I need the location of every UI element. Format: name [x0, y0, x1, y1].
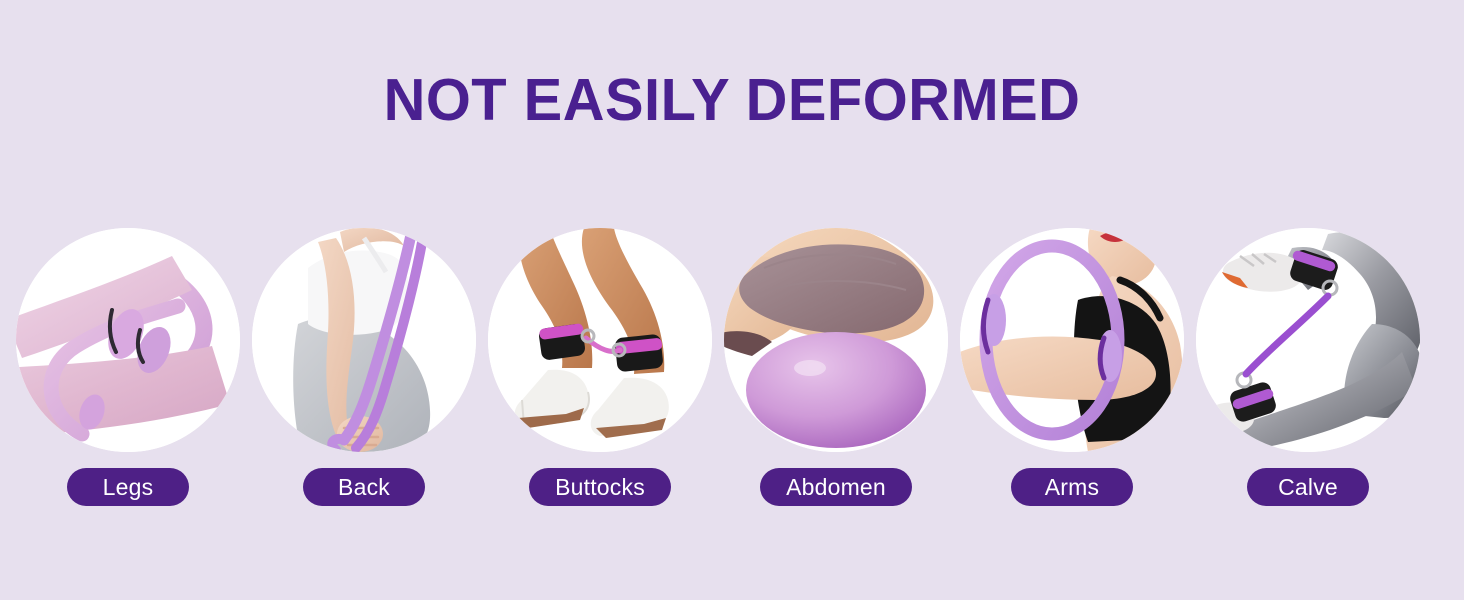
list-item: Back	[252, 228, 476, 506]
legs-with-pilates-ring-photo	[16, 228, 240, 452]
list-item: Abdomen	[724, 228, 948, 506]
page-title: NOT EASILY DEFORMED	[15, 64, 1450, 136]
body-part-label-arms[interactable]: Arms	[1011, 468, 1133, 506]
body-parts-list: Legs	[16, 228, 1448, 506]
promo-banner: NOT EASILY DEFORMED	[0, 0, 1464, 600]
list-item: Buttocks	[488, 228, 712, 506]
list-item: Legs	[16, 228, 240, 506]
buttocks-with-ankle-straps-photo	[488, 228, 712, 452]
body-part-label-abdomen[interactable]: Abdomen	[760, 468, 912, 506]
list-item: Calve	[1196, 228, 1420, 506]
body-part-label-buttocks[interactable]: Buttocks	[529, 468, 671, 506]
body-part-label-legs[interactable]: Legs	[67, 468, 189, 506]
body-part-label-back[interactable]: Back	[303, 468, 425, 506]
back-with-resistance-band-photo	[252, 228, 476, 452]
arms-with-pilates-ring-photo	[960, 228, 1184, 452]
body-part-label-calve[interactable]: Calve	[1247, 468, 1369, 506]
calve-with-resistance-band-photo	[1196, 228, 1420, 452]
list-item: Arms	[960, 228, 1184, 506]
abdomen-with-exercise-ball-photo	[724, 228, 948, 452]
